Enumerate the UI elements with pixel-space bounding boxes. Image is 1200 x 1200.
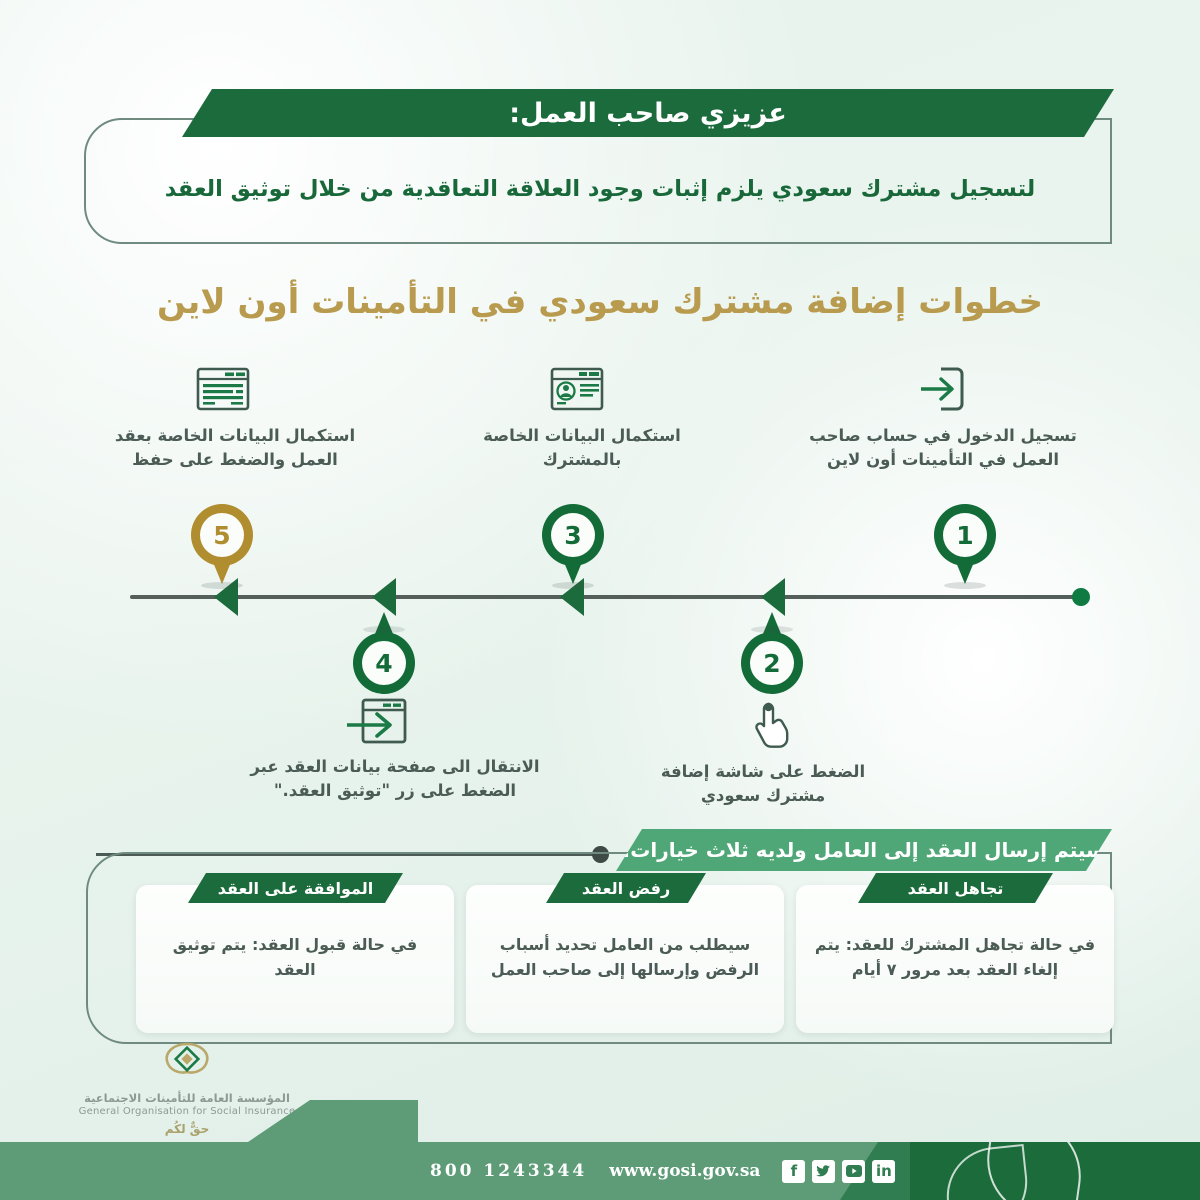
infographic-canvas: عزيزي صاحب العمل: لتسجيل مشترك سعودي يلز… <box>0 0 1200 1200</box>
pin-shadow <box>363 626 405 633</box>
youtube-icon[interactable] <box>842 1160 865 1183</box>
step-1-number: 1 <box>943 513 987 557</box>
gosi-logo-arabic: المؤسسة العامة للتأمينات الاجتماعية <box>62 1091 312 1105</box>
step-5-label: استكمال البيانات الخاصة بعقد العمل والضغ… <box>100 424 370 472</box>
pin-shadow <box>201 582 243 589</box>
timeline-arrow-3 <box>372 578 396 616</box>
facebook-icon[interactable]: f <box>782 1160 805 1183</box>
step-3-pin: 3 <box>542 504 604 586</box>
step-2-icon-wrap <box>748 700 796 748</box>
gosi-logo-english: General Organisation for Social Insuranc… <box>62 1106 312 1117</box>
header-ribbon: عزيزي صاحب العمل: <box>182 89 1114 137</box>
option-card-reject[interactable]: رفض العقد سيطلب من العامل تحديد أسباب ال… <box>466 885 784 1033</box>
gosi-logo: المؤسسة العامة للتأمينات الاجتماعية Gene… <box>62 1041 312 1136</box>
profile-form-icon <box>549 366 605 412</box>
twitter-icon[interactable] <box>812 1160 835 1183</box>
step-3-number: 3 <box>551 513 595 557</box>
step-2-number: 2 <box>750 641 794 685</box>
step-4-label: الانتقال الى صفحة بيانات العقد عبر الضغط… <box>250 755 540 803</box>
browser-form-icon <box>195 366 251 412</box>
options-banner-text: سيتم إرسال العقد إلى العامل ولديه ثلاث خ… <box>622 838 1105 862</box>
step-4-pin: 4 <box>353 612 415 694</box>
timeline-axis <box>130 595 1075 599</box>
option-card-body: سيطلب من العامل تحديد أسباب الرفض وإرسال… <box>484 933 766 983</box>
step-3-label: استكمال البيانات الخاصة بالمشترك <box>447 424 717 472</box>
login-arrow-icon <box>911 366 967 412</box>
step-5-number: 5 <box>200 513 244 557</box>
option-card-tag: الموافقة على العقد <box>188 873 403 903</box>
timeline-end-dot <box>1072 588 1090 606</box>
linkedin-icon[interactable]: in <box>872 1160 895 1183</box>
footer-website[interactable]: www.gosi.gov.sa <box>609 1161 760 1181</box>
page-title: خطوات إضافة مشترك سعودي في التأمينات أون… <box>100 282 1100 322</box>
option-card-approve[interactable]: الموافقة على العقد في حالة قبول العقد: ي… <box>136 885 454 1033</box>
step-1-pin: 1 <box>934 504 996 586</box>
step-3-icon-wrap <box>546 366 608 412</box>
footer-contact-row: 800 1243344 www.gosi.gov.sa f in <box>0 1142 1200 1200</box>
step-4-number: 4 <box>362 641 406 685</box>
browser-enter-arrow-icon <box>343 696 409 746</box>
option-card-tag-label: تجاهل العقد <box>908 879 1004 898</box>
header-ribbon-title: عزيزي صاحب العمل: <box>509 98 787 129</box>
step-5-icon-wrap <box>192 366 254 412</box>
gosi-logo-mark <box>161 1041 213 1087</box>
step-1-label: تسجيل الدخول في حساب صاحب العمل في التأم… <box>798 424 1088 472</box>
option-card-tag: تجاهل العقد <box>858 873 1053 903</box>
option-card-body: في حالة تجاهل المشترك للعقد: يتم إلغاء ا… <box>814 933 1096 983</box>
step-2-label: الضغط على شاشة إضافة مشترك سعودي <box>648 760 878 808</box>
pin-shadow <box>944 582 986 589</box>
footer-socials: f in <box>782 1160 895 1183</box>
option-card-ignore[interactable]: تجاهل العقد في حالة تجاهل المشترك للعقد:… <box>796 885 1114 1033</box>
footer-phone[interactable]: 800 1243344 <box>430 1161 587 1181</box>
option-card-body: في حالة قبول العقد: يتم توثيق العقد <box>154 933 436 983</box>
pin-shadow <box>552 582 594 589</box>
option-card-tag-label: الموافقة على العقد <box>218 879 374 898</box>
option-card-tag: رفض العقد <box>546 873 706 903</box>
option-card-tag-label: رفض العقد <box>582 879 670 898</box>
header-subtitle: لتسجيل مشترك سعودي يلزم إثبات وجود العلا… <box>110 176 1090 202</box>
step-4-icon-wrap <box>341 695 411 747</box>
pointing-hand-icon <box>751 700 793 748</box>
step-1-icon-wrap <box>908 366 970 412</box>
options-banner: سيتم إرسال العقد إلى العامل ولديه ثلاث خ… <box>616 829 1112 871</box>
step-5-pin: 5 <box>191 504 253 586</box>
timeline-arrow-1 <box>761 578 785 616</box>
pin-shadow <box>751 626 793 633</box>
step-2-pin: 2 <box>741 612 803 694</box>
